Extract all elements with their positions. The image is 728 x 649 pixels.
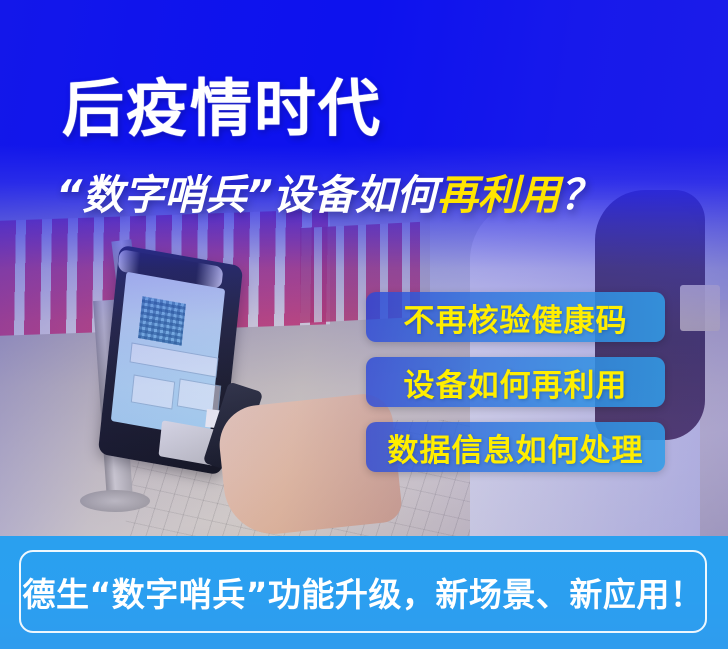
banner-frame: 德生“数字哨兵”功能升级，新场景、新应用！ <box>19 550 707 633</box>
subtitle-prefix: “数字哨兵”设备如何 <box>56 171 437 219</box>
subtitle-highlight: 再利用 <box>437 171 560 219</box>
poster-root: 后疫情时代 “数字哨兵”设备如何再利用？ 不再核验健康码 设备如何再利用 数据信… <box>0 0 728 649</box>
page-subtitle: “数字哨兵”设备如何再利用？ <box>56 175 601 216</box>
pill-data-handling[interactable]: 数据信息如何处理 <box>366 422 665 472</box>
pill-label: 数据信息如何处理 <box>388 425 644 470</box>
subtitle-question-mark: ？ <box>560 171 601 219</box>
page-title: 后疫情时代 <box>62 78 382 140</box>
bottom-banner: 德生“数字哨兵”功能升级，新场景、新应用！ <box>0 536 728 649</box>
pill-label: 设备如何再利用 <box>404 360 628 405</box>
pill-label: 不再核验健康码 <box>404 295 628 340</box>
pill-device-reuse[interactable]: 设备如何再利用 <box>366 357 665 407</box>
pill-health-code[interactable]: 不再核验健康码 <box>366 292 665 342</box>
banner-text: 德生“数字哨兵”功能升级，新场景、新应用！ <box>23 568 704 616</box>
